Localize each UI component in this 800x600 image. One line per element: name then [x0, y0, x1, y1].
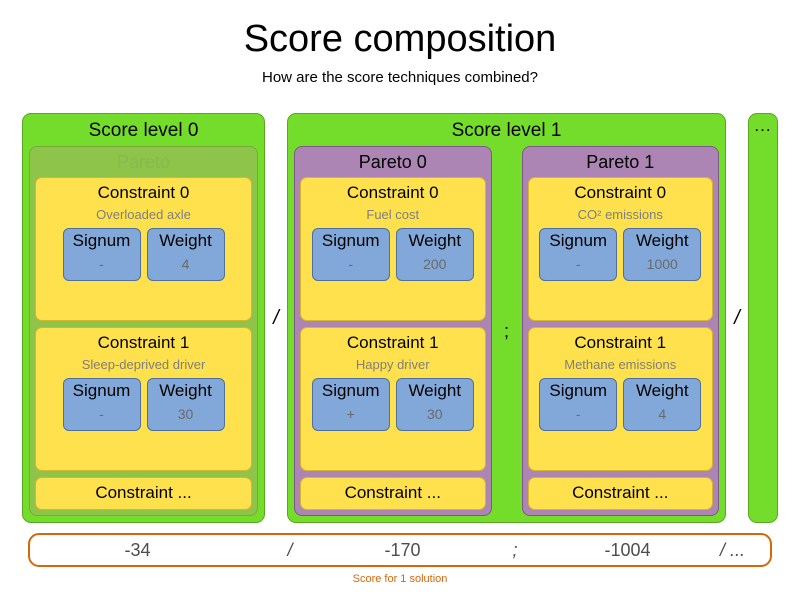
constraint-card[interactable]: Constraint 1 Happy driver Signum + Weigh… [300, 327, 486, 471]
pareto-0-constraints: Constraint 0 Fuel cost Signum - Weight 2… [300, 177, 486, 510]
signum-box[interactable]: Signum - [312, 228, 390, 281]
score-level-0-title: Score level 0 [29, 118, 258, 146]
weight-label: Weight [150, 380, 222, 402]
constraint-more-label: Constraint ... [345, 480, 441, 506]
pareto-1-constraints: Constraint 0 CO² emissions Signum - Weig… [528, 177, 714, 510]
pareto-disabled-constraints: Constraint 0 Overloaded axle Signum - We… [35, 177, 252, 510]
weight-label: Weight [399, 230, 471, 252]
constraint-attributes: Signum - Weight 4 [535, 378, 707, 431]
constraint-card[interactable]: Constraint 1 Methane emissions Signum - … [528, 327, 714, 471]
constraint-more-card[interactable]: Constraint ... [300, 477, 486, 510]
constraint-description: Sleep-deprived driver [82, 355, 206, 374]
signum-label: Signum [66, 230, 138, 252]
constraint-description: Happy driver [356, 355, 430, 374]
pareto-0-group[interactable]: Pareto 0 Constraint 0 Fuel cost Signum -… [294, 146, 492, 516]
signum-box[interactable]: Signum - [539, 378, 617, 431]
weight-label: Weight [150, 230, 222, 252]
weight-box[interactable]: Weight 200 [396, 228, 474, 281]
signum-value: - [542, 402, 614, 426]
constraint-card[interactable]: Constraint 1 Sleep-deprived driver Signu… [35, 327, 252, 471]
signum-value: + [315, 402, 387, 426]
constraint-card[interactable]: Constraint 0 Fuel cost Signum - Weight 2… [300, 177, 486, 321]
weight-value: 1000 [626, 252, 698, 276]
constraint-attributes: Signum - Weight 200 [307, 228, 479, 281]
signum-label: Signum [542, 380, 614, 402]
signum-box[interactable]: Signum - [63, 378, 141, 431]
score-level-0-body: Pareto Constraint 0 Overloaded axle Sign… [29, 146, 258, 516]
constraint-title: Constraint 0 [347, 181, 439, 204]
pareto-disabled-group[interactable]: Pareto Constraint 0 Overloaded axle Sign… [29, 146, 258, 516]
score-level-1-title: Score level 1 [294, 118, 719, 146]
weight-box[interactable]: Weight 1000 [623, 228, 701, 281]
signum-label: Signum [66, 380, 138, 402]
constraint-attributes: Signum - Weight 30 [42, 378, 245, 431]
pareto-0-title: Pareto 0 [300, 150, 486, 177]
weight-box[interactable]: Weight 4 [147, 228, 225, 281]
constraint-title: Constraint 1 [574, 331, 666, 354]
score-level-more[interactable]: ... [748, 113, 778, 523]
signum-value: - [315, 252, 387, 276]
page-title: Score composition [0, 16, 800, 62]
score-operator-more: / ... [695, 540, 770, 560]
score-value-pareto-1: -1004 [560, 540, 695, 560]
weight-label: Weight [399, 380, 471, 402]
weight-value: 4 [150, 252, 222, 276]
weight-box[interactable]: Weight 30 [396, 378, 474, 431]
signum-box[interactable]: Signum - [539, 228, 617, 281]
weight-label: Weight [626, 380, 698, 402]
constraint-title: Constraint 1 [347, 331, 439, 354]
signum-value: - [66, 252, 138, 276]
signum-value: - [66, 402, 138, 426]
constraint-more-card[interactable]: Constraint ... [528, 477, 714, 510]
constraint-attributes: Signum + Weight 30 [307, 378, 479, 431]
signum-box[interactable]: Signum - [63, 228, 141, 281]
constraint-title: Constraint 0 [98, 181, 190, 204]
score-value-level-0: -34 [30, 540, 245, 560]
signum-label: Signum [315, 380, 387, 402]
signum-label: Signum [315, 230, 387, 252]
weight-box[interactable]: Weight 4 [623, 378, 701, 431]
weight-value: 4 [626, 402, 698, 426]
constraint-description: Fuel cost [366, 205, 419, 224]
score-composition-diagram: Score level 0 Pareto Constraint 0 Overlo… [0, 113, 800, 523]
signum-box[interactable]: Signum + [312, 378, 390, 431]
score-level-0[interactable]: Score level 0 Pareto Constraint 0 Overlo… [22, 113, 265, 523]
constraint-attributes: Signum - Weight 1000 [535, 228, 707, 281]
constraint-more-label: Constraint ... [572, 480, 668, 506]
trailing-separator: / [726, 113, 748, 523]
level-separator: / [265, 113, 287, 523]
weight-label: Weight [626, 230, 698, 252]
pareto-1-title: Pareto 1 [528, 150, 714, 177]
constraint-description: CO² emissions [578, 205, 663, 224]
score-bar[interactable]: -34 / -170 ; -1004 / ... [28, 533, 772, 567]
weight-value: 200 [399, 252, 471, 276]
pareto-1-group[interactable]: Pareto 1 Constraint 0 CO² emissions Sign… [522, 146, 720, 516]
signum-label: Signum [542, 230, 614, 252]
constraint-description: Methane emissions [564, 355, 676, 374]
pareto-separator: ; [500, 146, 514, 516]
score-caption: Score for 1 solution [28, 572, 772, 586]
constraint-more-card[interactable]: Constraint ... [35, 477, 252, 510]
constraint-attributes: Signum - Weight 4 [42, 228, 245, 281]
score-level-more-title: ... [751, 116, 775, 138]
score-value-pareto-0: -170 [335, 540, 470, 560]
constraint-more-label: Constraint ... [95, 480, 191, 506]
constraint-title: Constraint 0 [574, 181, 666, 204]
score-operator-semicolon: ; [470, 540, 560, 560]
page-subtitle: How are the score techniques combined? [0, 68, 800, 88]
constraint-card[interactable]: Constraint 0 CO² emissions Signum - Weig… [528, 177, 714, 321]
constraint-description: Overloaded axle [96, 205, 191, 224]
weight-value: 30 [150, 402, 222, 426]
constraint-title: Constraint 1 [98, 331, 190, 354]
signum-value: - [542, 252, 614, 276]
weight-value: 30 [399, 402, 471, 426]
weight-box[interactable]: Weight 30 [147, 378, 225, 431]
page-header: Score composition How are the score tech… [0, 0, 800, 88]
pareto-disabled-title: Pareto [35, 150, 252, 177]
score-operator-slash-1: / [245, 540, 335, 560]
score-level-1-body: Pareto 0 Constraint 0 Fuel cost Signum -… [294, 146, 719, 516]
score-summary: -34 / -170 ; -1004 / ... Score for 1 sol… [28, 533, 772, 586]
score-level-1[interactable]: Score level 1 Pareto 0 Constraint 0 Fuel… [287, 113, 726, 523]
constraint-card[interactable]: Constraint 0 Overloaded axle Signum - We… [35, 177, 252, 321]
